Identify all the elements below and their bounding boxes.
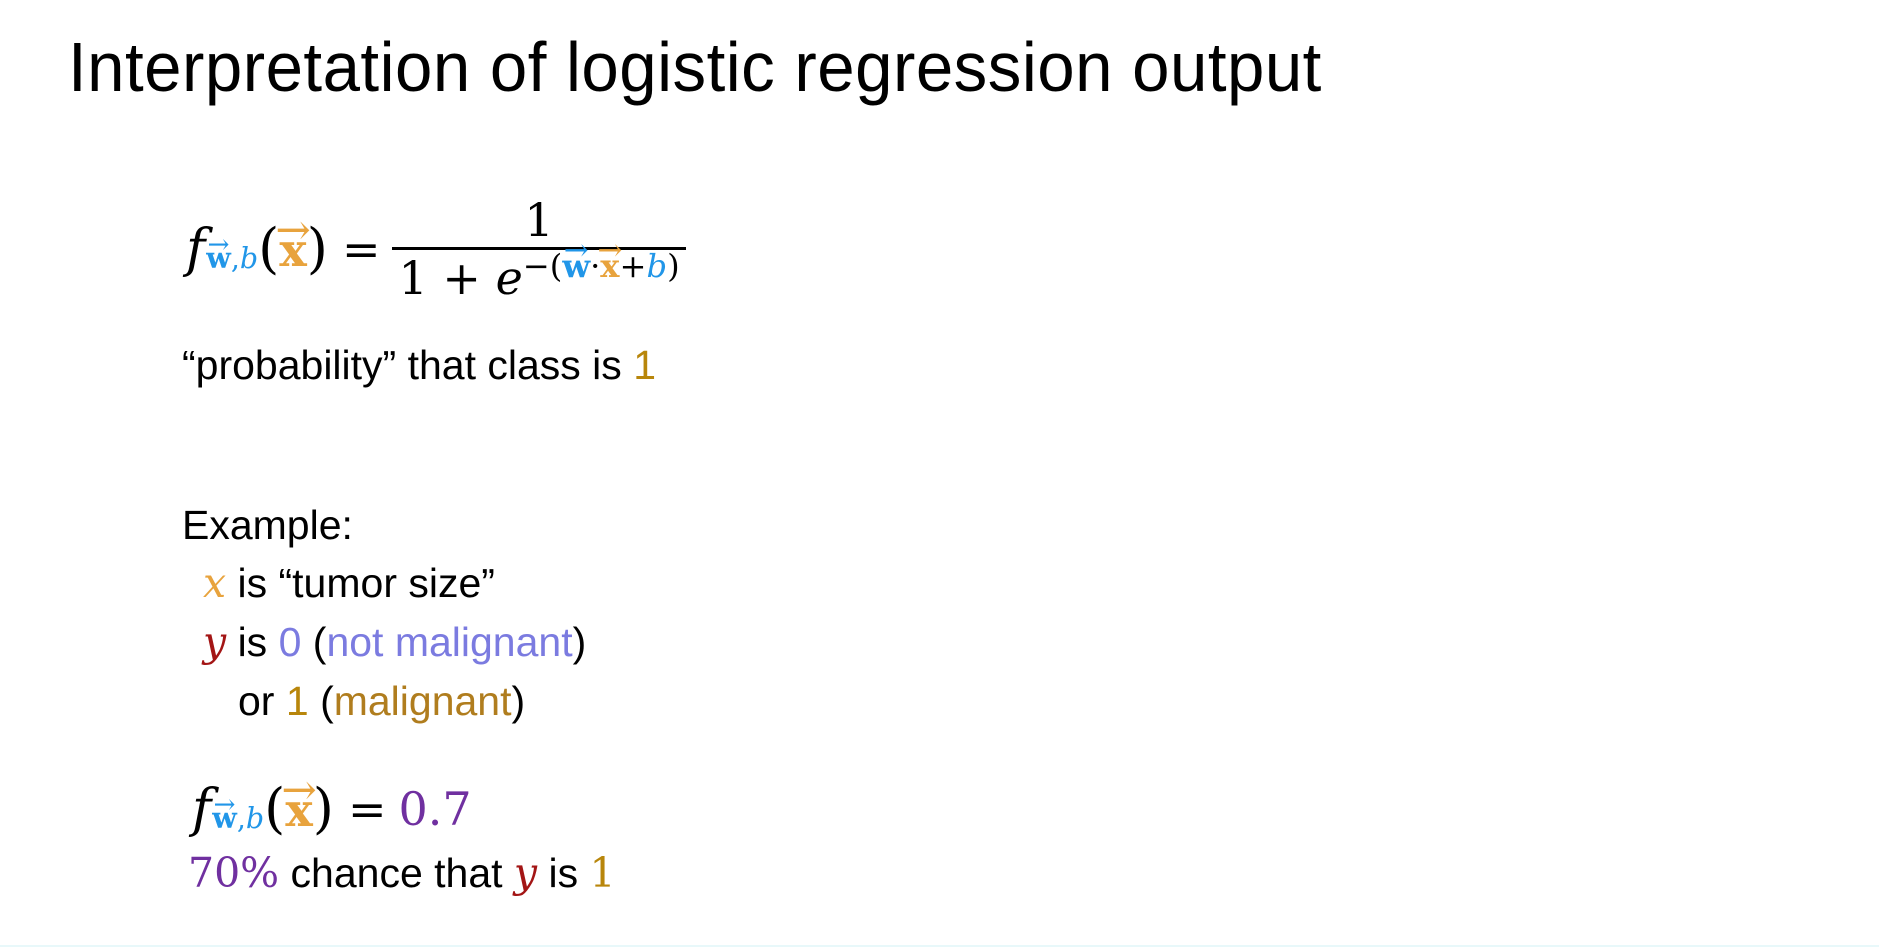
prediction-equals: = bbox=[348, 786, 387, 832]
example-y-is: is bbox=[226, 619, 278, 665]
percent-value: 70% bbox=[188, 849, 279, 897]
exponent-b-letter: b bbox=[646, 247, 667, 285]
subscript-comma: , bbox=[237, 802, 246, 835]
prediction-formula: f→w,b(→x) = 0.7 bbox=[192, 782, 472, 836]
probability-class-value: 1 bbox=[633, 342, 656, 388]
subscript-b-letter: b bbox=[246, 802, 264, 835]
vector-x-argument: →x bbox=[285, 785, 312, 833]
formula-subscript: →w,b bbox=[206, 242, 258, 274]
example-x-description: is “tumor size” bbox=[226, 560, 495, 606]
example-x-line: x is “tumor size” bbox=[203, 563, 495, 604]
example-or-label-malignant: malignant bbox=[334, 678, 512, 724]
exponent-paren-open: ( bbox=[550, 247, 563, 285]
exponent-vector-x: →x bbox=[600, 247, 619, 283]
example-or-value-one: 1 bbox=[286, 678, 309, 724]
example-y-value-zero: 0 bbox=[279, 619, 302, 665]
percent-y-variable: y bbox=[514, 849, 537, 897]
percent-is-word: is bbox=[537, 850, 589, 896]
example-or-word: or bbox=[238, 678, 286, 724]
prediction-result-value: 0.7 bbox=[398, 786, 471, 832]
subscript-w-letter: w bbox=[212, 801, 237, 835]
exponent-plus: + bbox=[620, 247, 647, 285]
example-or-paren-close: ) bbox=[512, 678, 526, 724]
sigmoid-fraction: 1 1 + e−(→w·→x+b) bbox=[392, 196, 685, 303]
percent-class-value: 1 bbox=[590, 849, 616, 897]
vector-w: →w bbox=[212, 802, 237, 834]
prediction-f-symbol: f bbox=[192, 783, 211, 835]
example-or-paren-open: ( bbox=[309, 678, 334, 724]
example-y-variable: y bbox=[203, 618, 226, 666]
exponent-minus: − bbox=[523, 247, 550, 285]
probability-caption: “probability” that class is 1 bbox=[182, 345, 656, 386]
vector-x-argument: →x bbox=[279, 225, 306, 273]
prediction-subscript: →w,b bbox=[212, 802, 264, 834]
denominator-one: 1 bbox=[398, 251, 427, 305]
example-x-variable: x bbox=[203, 559, 226, 607]
example-y-paren-open: ( bbox=[301, 619, 326, 665]
vector-w: →w bbox=[206, 242, 231, 274]
formula-paren-close: ) bbox=[307, 222, 328, 276]
formula-equals: = bbox=[342, 226, 381, 272]
exponent-vector-w: →w bbox=[562, 247, 590, 283]
formula-paren-open: ( bbox=[258, 222, 279, 276]
sigmoid-formula: f→w,b(→x) = 1 1 + e−(→w·→x+b) bbox=[186, 196, 686, 303]
denominator-e: e bbox=[496, 251, 523, 305]
exponent-dot-operator: · bbox=[590, 247, 600, 285]
argument-x-letter: x bbox=[285, 783, 312, 837]
exponent-w-letter: w bbox=[562, 247, 590, 285]
fraction-denominator: 1 + e−(→w·→x+b) bbox=[392, 250, 685, 303]
slide-canvas: Interpretation of logistic regression ou… bbox=[0, 0, 1879, 947]
example-or-line: or 1 (malignant) bbox=[238, 681, 525, 722]
exponent-group: −(→w·→x+b) bbox=[523, 247, 680, 285]
page-title: Interpretation of logistic regression ou… bbox=[68, 32, 1322, 102]
example-y-paren-close: ) bbox=[573, 619, 587, 665]
subscript-comma: , bbox=[231, 242, 240, 275]
denominator-plus: + bbox=[442, 251, 481, 305]
subscript-b-letter: b bbox=[240, 242, 258, 275]
example-y-label-not-malignant: not malignant bbox=[326, 619, 572, 665]
exponent-x-letter: x bbox=[600, 247, 619, 285]
percent-chance-line: 70% chance that y is 1 bbox=[188, 853, 616, 894]
fraction-numerator: 1 bbox=[514, 196, 563, 247]
prediction-paren-open: ( bbox=[264, 782, 285, 836]
example-heading: Example: bbox=[182, 505, 353, 546]
formula-f-symbol: f bbox=[186, 223, 205, 275]
probability-middle-text: that class is bbox=[396, 342, 633, 388]
probability-quoted-term: “probability” bbox=[182, 342, 396, 388]
prediction-paren-close: ) bbox=[313, 782, 334, 836]
argument-x-letter: x bbox=[279, 223, 306, 277]
subscript-w-letter: w bbox=[206, 241, 231, 275]
percent-middle-text: chance that bbox=[279, 850, 514, 896]
exponent-paren-close: ) bbox=[667, 247, 680, 285]
example-y-line: y is 0 (not malignant) bbox=[203, 622, 586, 663]
